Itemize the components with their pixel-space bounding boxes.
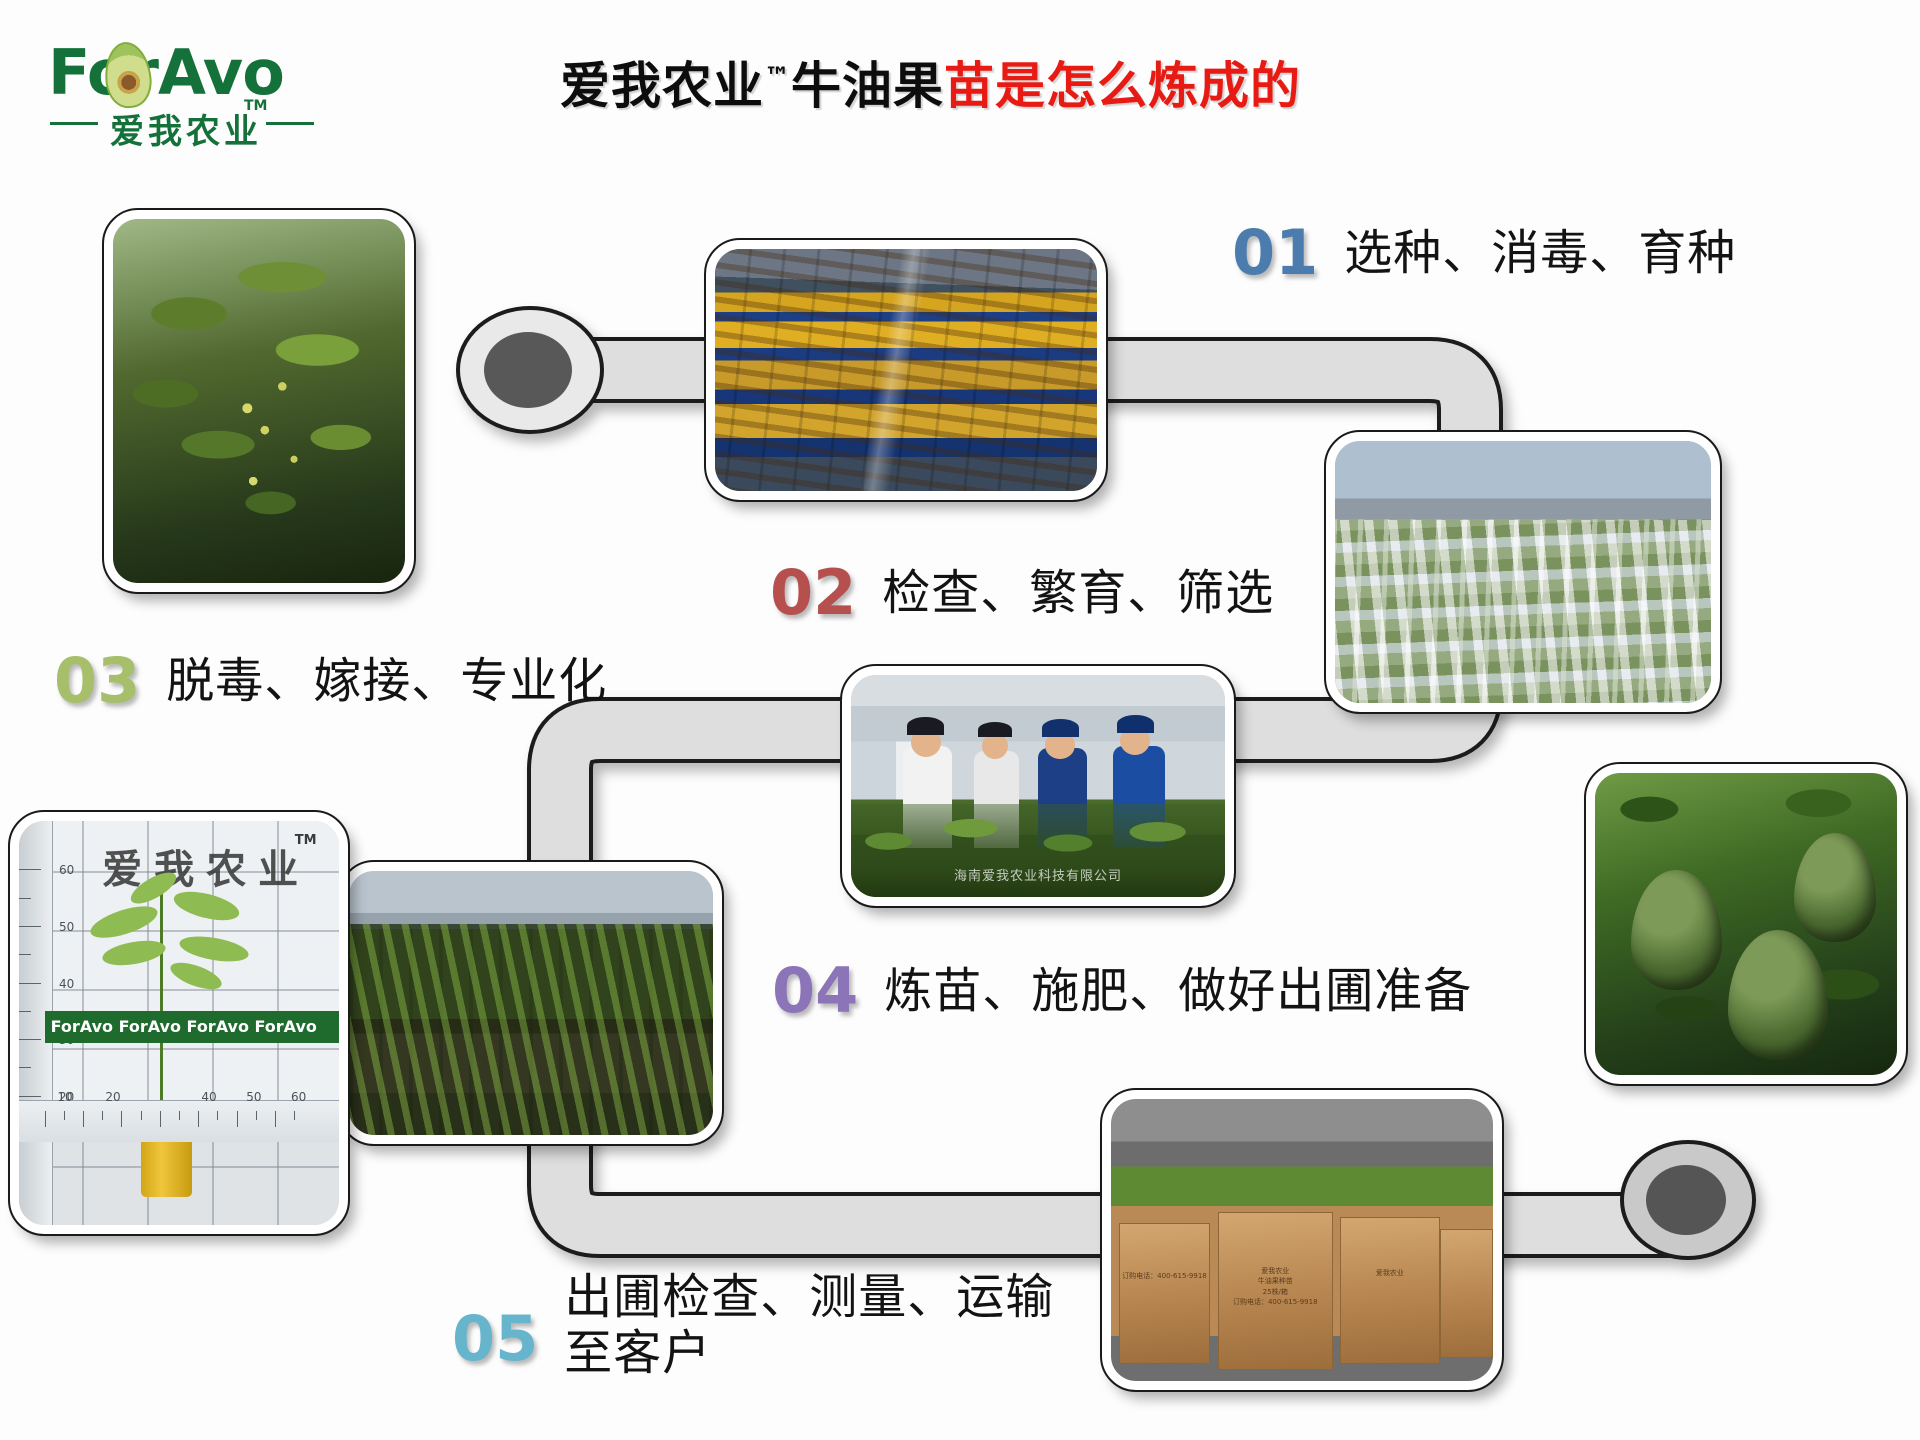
step-01-number: 01 — [1232, 222, 1318, 284]
photo-avocados-on-tree — [1586, 764, 1906, 1084]
step-01-text: 选种、消毒、育种 — [1344, 222, 1736, 282]
step-04-text: 炼苗、施肥、做好出圃准备 — [884, 960, 1472, 1020]
htick-40: 40 — [201, 1090, 216, 1104]
photo-packed-cartons-on-line: 订购电话：400-615-9918 爱我农业 牛油果种苗 25株/箱 订购电话：… — [1102, 1090, 1502, 1390]
logo-rule-right — [266, 122, 314, 125]
htick-10: 10 — [57, 1090, 72, 1104]
htick-50: 50 — [246, 1090, 261, 1104]
box-phone-left: 订购电话：400-615-9918 — [1120, 1271, 1210, 1282]
photo-greenhouse-rows-plastic-bags — [1326, 432, 1720, 712]
photo-seed-trays-greenhouse — [706, 240, 1106, 500]
vtick-50: 50 — [59, 920, 74, 934]
box-qty: 25株/箱 — [1219, 1287, 1332, 1298]
photo-watermark: 海南爱我农业科技有限公司 — [954, 865, 1122, 884]
box-phone: 订购电话：400-615-9918 — [1219, 1297, 1332, 1308]
brand-logo: ForAvo 爱我农业 TM — [48, 30, 318, 150]
photo-staff-inspecting-seedlings: 海南爱我农业科技有限公司 — [842, 666, 1234, 906]
step-02-number: 02 — [770, 562, 856, 624]
page-title: 爱我农业™牛油果苗是怎么炼成的 — [560, 46, 1540, 118]
horizontal-ruler — [19, 1100, 339, 1142]
title-brand: 爱我农业 — [560, 57, 764, 115]
box-brand: 爱我农业 — [1219, 1266, 1332, 1277]
step-05-text: 出圃检查、测量、运输 至客户 — [564, 1266, 1054, 1381]
photo-seedling-measurement-board: 爱我农业 TM 60 50 40 30 20 — [10, 812, 348, 1234]
board-watermark-band: ForAvo ForAvo ForAvo ForAvo — [45, 1011, 339, 1043]
htick-20: 20 — [105, 1090, 120, 1104]
step-01: 01 选种、消毒、育种 — [1232, 222, 1736, 284]
step-05-number: 05 — [452, 1308, 538, 1370]
step-04-number: 04 — [772, 960, 858, 1022]
vtick-60: 60 — [59, 863, 74, 877]
title-trademark-icon: ™ — [764, 62, 791, 92]
step-02: 02 检查、繁育、筛选 — [770, 562, 1274, 624]
step-04: 04 炼苗、施肥、做好出圃准备 — [772, 960, 1472, 1022]
title-highlight: 苗是怎么炼成的 — [944, 57, 1301, 115]
photo-flowering-avocado-branch — [104, 210, 414, 592]
step-03-text: 脱毒、嫁接、专业化 — [166, 650, 607, 710]
box-sub: 牛油果种苗 — [1219, 1276, 1332, 1287]
step-03-number: 03 — [54, 650, 140, 712]
box-brand-right: 爱我农业 — [1341, 1268, 1438, 1279]
board-trademark-icon: TM — [295, 833, 317, 848]
step-05: 05 出圃检查、测量、运输 至客户 — [452, 1266, 1054, 1381]
infographic-canvas: ForAvo 爱我农业 TM 爱我农业™牛油果苗是怎么炼成的 — [0, 0, 1920, 1440]
step-03: 03 脱毒、嫁接、专业化 — [54, 650, 607, 712]
htick-60: 60 — [291, 1090, 306, 1104]
step-02-text: 检查、繁育、筛选 — [882, 562, 1274, 622]
vtick-40: 40 — [59, 977, 74, 991]
title-middle: 牛油果 — [791, 57, 944, 115]
photo-potted-seedling-rows — [340, 862, 722, 1144]
logo-trademark-icon: TM — [244, 98, 267, 114]
logo-rule-left — [50, 122, 98, 125]
board-brand-text: 爱我农业 — [102, 837, 310, 895]
logo-chinese-name: 爱我农业 — [110, 104, 262, 153]
